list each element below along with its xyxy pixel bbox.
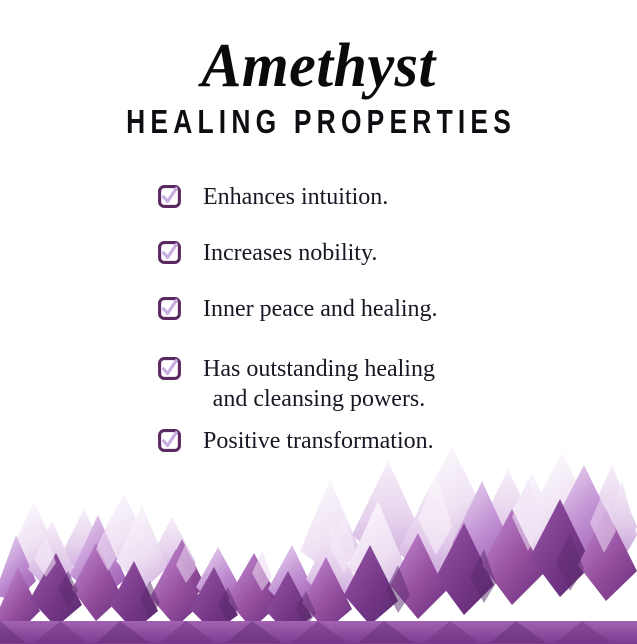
- checkbox-checked-icon: [158, 185, 181, 208]
- list-item: Inner peace and healing.: [158, 294, 438, 324]
- page-subtitle: HEALING PROPERTIES: [64, 98, 574, 140]
- list-item-label: Increases nobility.: [203, 238, 377, 268]
- poster-header: Amethyst HEALING PROPERTIES: [0, 0, 637, 140]
- checkbox-checked-icon: [158, 241, 181, 264]
- list-item: Has outstanding healing and cleansing po…: [158, 354, 435, 414]
- list-item-label: Enhances intuition.: [203, 182, 388, 212]
- list-item: Increases nobility.: [158, 238, 377, 268]
- list-item-label: Has outstanding healing and cleansing po…: [203, 354, 435, 414]
- amethyst-crystal-cluster-image: [0, 439, 637, 644]
- list-item-label: Inner peace and healing.: [203, 294, 438, 324]
- checkbox-checked-icon: [158, 357, 181, 380]
- page-title: Amethyst: [10, 0, 628, 98]
- list-item: Enhances intuition.: [158, 182, 388, 212]
- checkbox-checked-icon: [158, 297, 181, 320]
- poster-root: Amethyst HEALING PROPERTIES Enhances int…: [0, 0, 637, 644]
